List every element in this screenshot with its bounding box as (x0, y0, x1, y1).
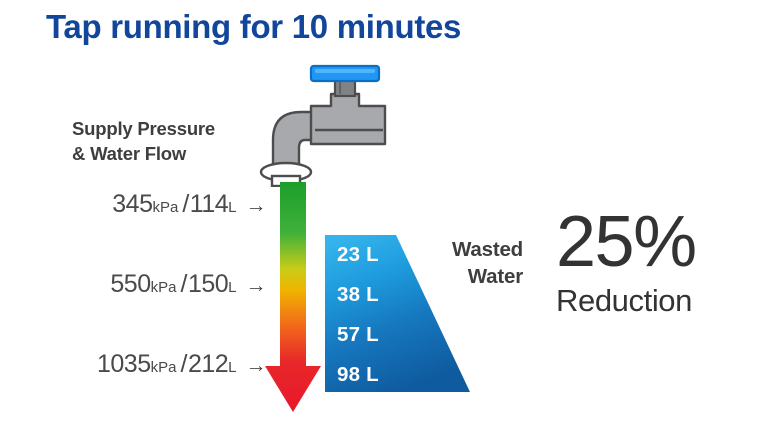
reduction-caption: Reduction (556, 283, 746, 319)
pressure-value: 1035 (97, 350, 151, 379)
waste-value: 98 L (337, 363, 379, 387)
reduction-stat: 25% Reduction (556, 208, 746, 319)
waste-label-line-1: Wasted (398, 236, 523, 263)
supply-pressure-caption: Supply Pressure & Water Flow (72, 117, 272, 167)
flow-unit: L (228, 359, 236, 376)
right-arrow-icon: → (237, 354, 267, 378)
pressure-flow-row: 550kPa/150L→ (110, 270, 266, 299)
wasted-water-label: Wasted Water (398, 236, 523, 291)
waste-value: 23 L (337, 243, 379, 267)
page-title: Tap running for 10 minutes (46, 8, 461, 46)
flow-value: 150 (188, 270, 228, 299)
gradient-down-arrow-icon (262, 180, 324, 428)
pressure-flow-row: 345kPa/114L→ (112, 190, 266, 219)
pressure-value: 550 (110, 270, 150, 299)
flow-value: 212 (188, 350, 228, 379)
pressure-flow-list: 345kPa/114L→ 550kPa/150L→ 1035kPa/212L→ (24, 190, 266, 390)
supply-caption-line-2: & Water Flow (72, 142, 272, 167)
pressure-unit: kPa (151, 279, 177, 296)
infographic-canvas: Tap running for 10 minutes Supply Pressu… (0, 0, 768, 432)
pressure-unit: kPa (151, 359, 177, 376)
flow-unit: L (228, 199, 236, 216)
row-separator: / (178, 190, 189, 219)
pressure-unit: kPa (152, 199, 178, 216)
right-arrow-icon: → (237, 194, 267, 218)
waste-label-line-2: Water (398, 263, 523, 290)
flow-value: 114 (190, 190, 228, 219)
tap-faucet-icon (255, 62, 400, 187)
flow-unit: L (228, 279, 236, 296)
waste-value: 57 L (337, 323, 379, 347)
pressure-flow-row: 1035kPa/212L→ (97, 350, 266, 379)
row-separator: / (176, 270, 187, 299)
pressure-value: 345 (112, 190, 152, 219)
row-separator: / (176, 350, 187, 379)
waste-value: 38 L (337, 283, 379, 307)
reduction-percentage: 25% (556, 208, 746, 277)
supply-caption-line-1: Supply Pressure (72, 117, 272, 142)
right-arrow-icon: → (237, 274, 267, 298)
